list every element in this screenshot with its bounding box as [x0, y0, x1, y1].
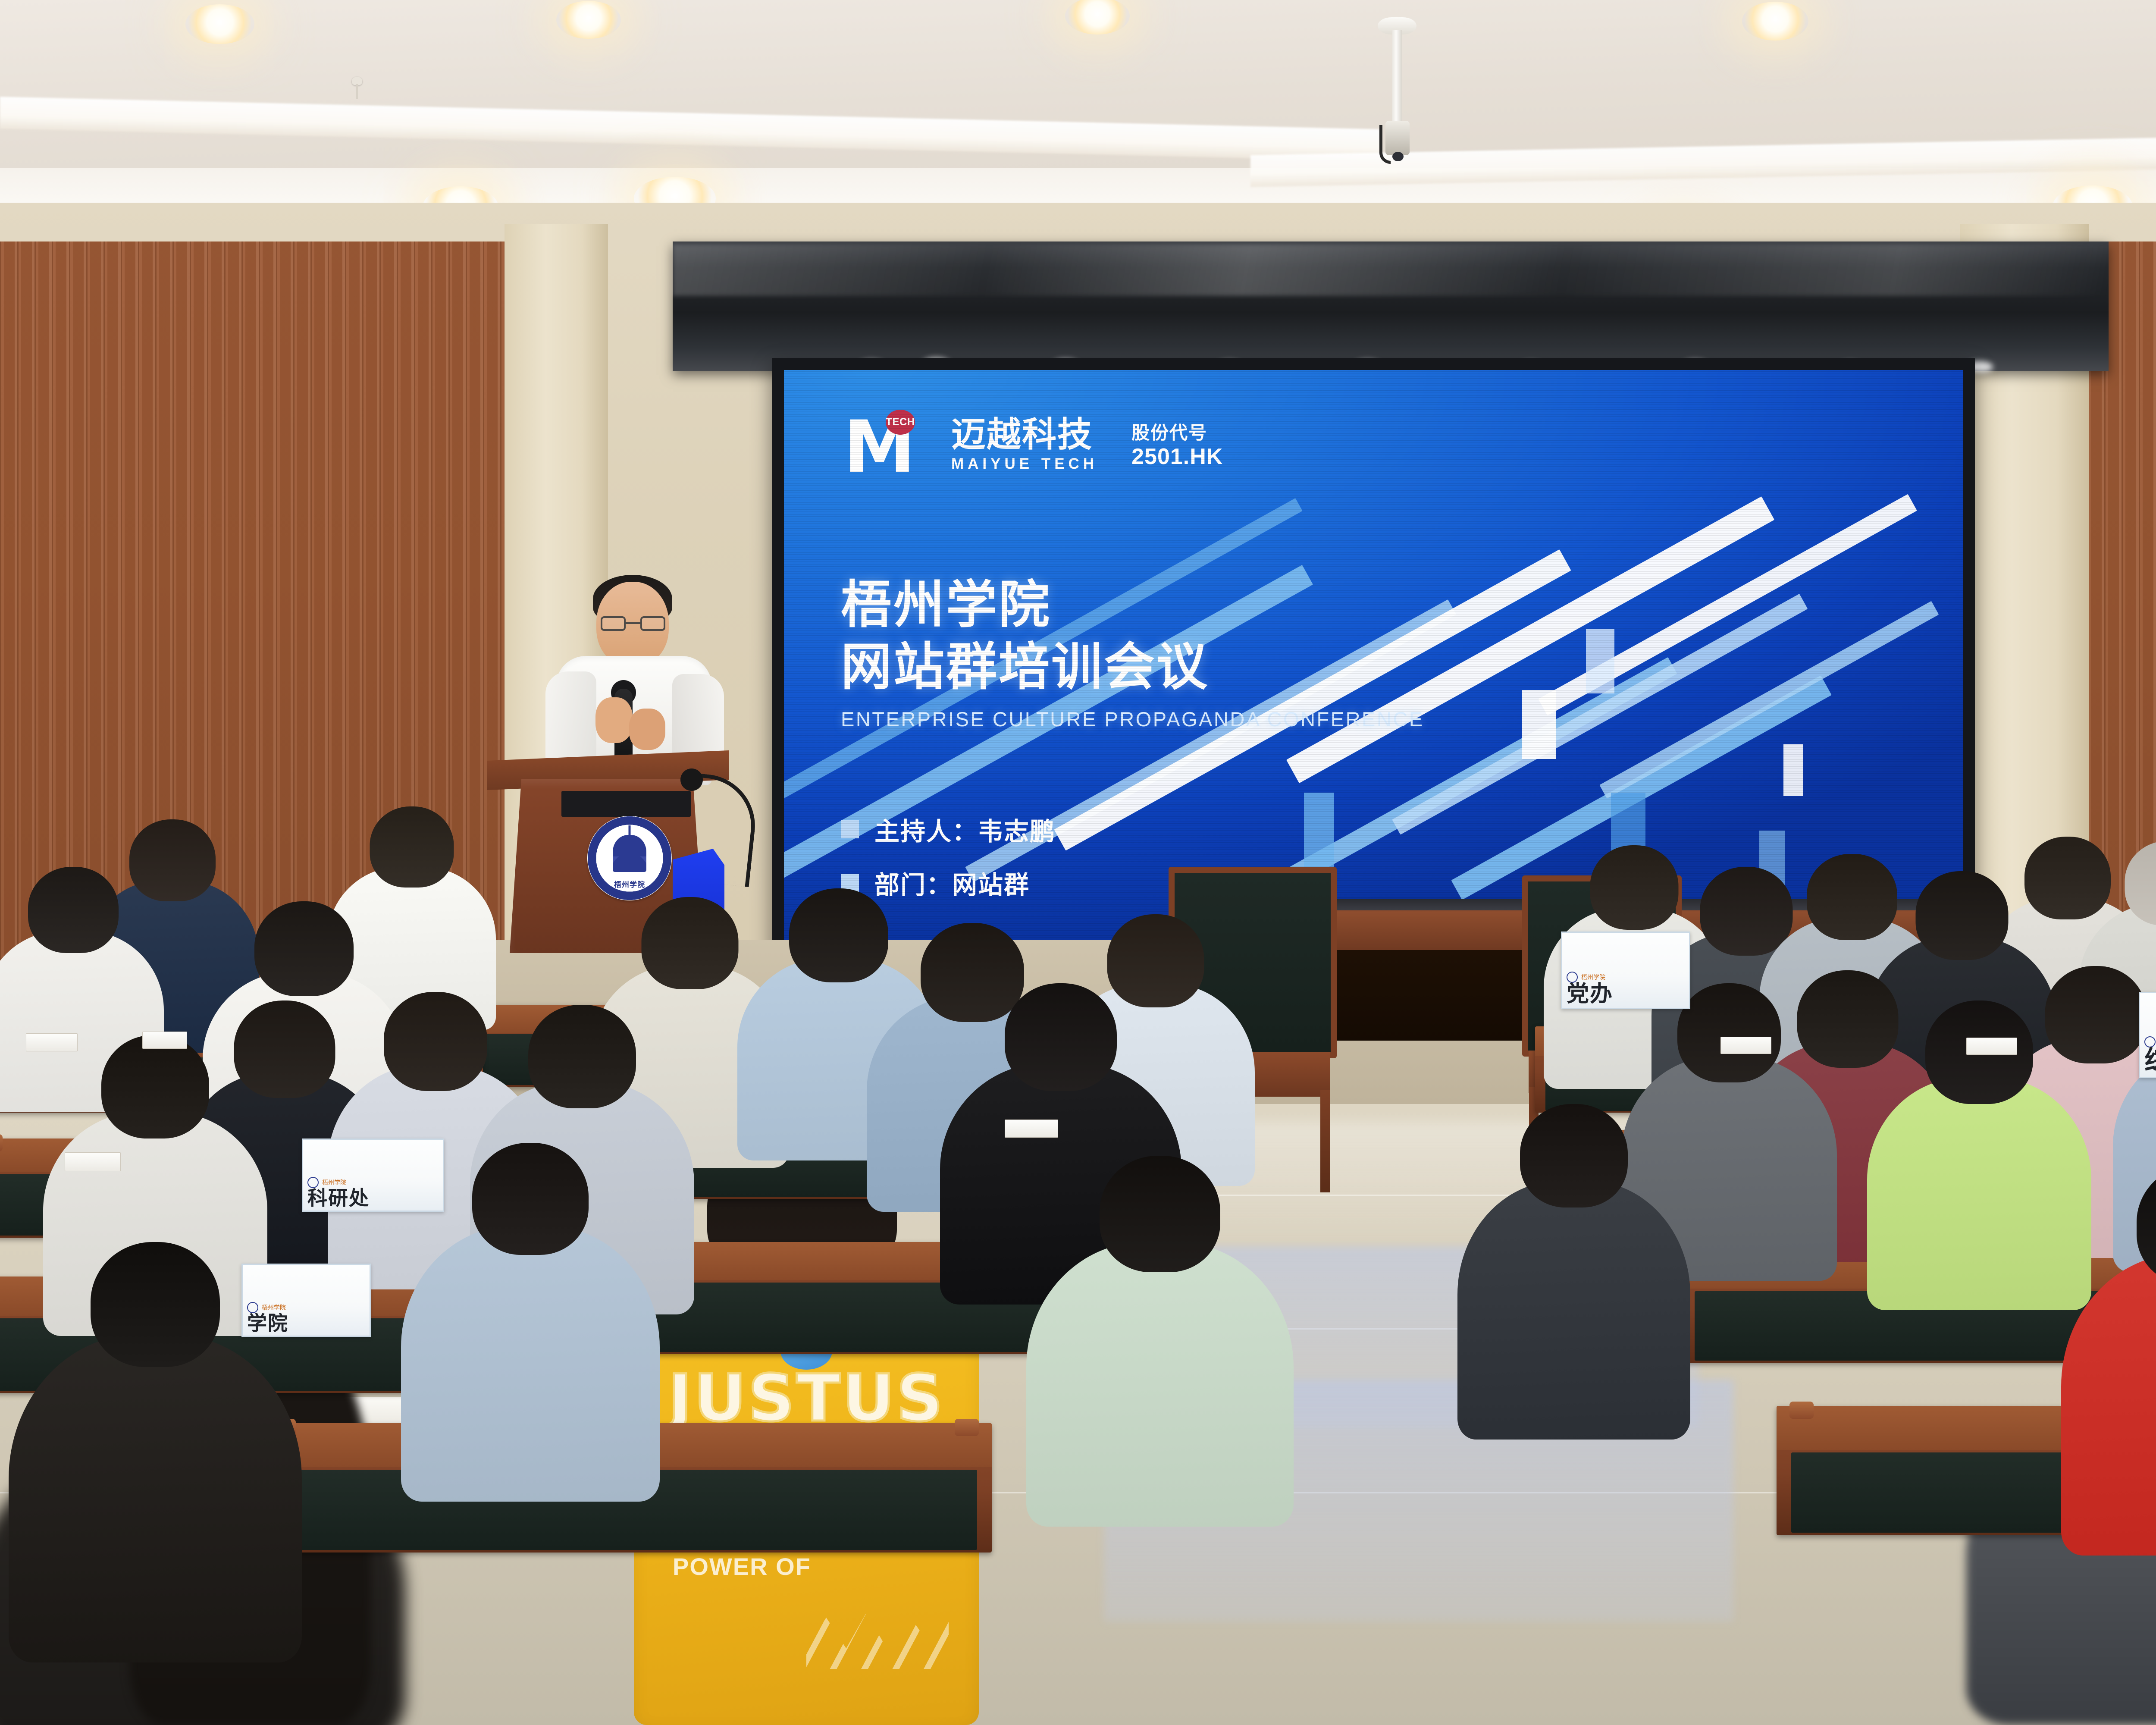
conference-hall-photo: M TECH 迈越科技 MAIYUE TECH 股份代号 2501.HK 梧州学…: [0, 0, 2156, 1725]
speaker-presenter: [541, 571, 727, 774]
attendee-front-green: [1026, 1156, 1294, 1557]
department-name-card: 梧州学院党办: [1561, 931, 1690, 1009]
attendee-centre-dark: [1457, 1104, 1690, 1466]
speaker-hand-right: [629, 709, 665, 750]
downlight-1: [185, 4, 254, 44]
title-line-1: 梧州学院: [841, 574, 1937, 637]
ceiling-camera-icon: [1378, 17, 1416, 160]
brand-name-en: MAIYUE TECH: [951, 455, 1098, 473]
attendee-torso: [9, 1335, 302, 1662]
attendee-torso: [1026, 1242, 1294, 1527]
namecard-subtitle: 梧州学院: [322, 1178, 346, 1187]
bullet-text-1: 主持人：韦志鹏: [874, 811, 1056, 847]
logo-tech-badge: TECH: [886, 410, 915, 435]
attendee-torso: [401, 1226, 660, 1502]
attendee-head: [28, 867, 119, 953]
attendee-head: [91, 1242, 220, 1367]
seat-plate-4: [1005, 1120, 1058, 1138]
namecard-department: 学院: [247, 1313, 365, 1333]
attendee-head: [101, 1035, 209, 1138]
seat-plate-3: [65, 1152, 121, 1171]
podium-desk-plate: [561, 791, 691, 817]
attendee-torso: [2061, 1254, 2156, 1556]
speaker-glasses-icon: [601, 616, 665, 631]
attendee-head: [1916, 871, 2009, 960]
attendee-red-shirt: [2061, 1164, 2156, 1587]
namecard-department: 党办: [1567, 983, 1685, 1005]
attendee-head: [472, 1143, 589, 1255]
brand-name-cn: 迈越科技: [951, 417, 1098, 452]
screen-valance: [673, 241, 2109, 371]
slide-bullet-1: 主持人：韦志鹏: [841, 811, 1937, 847]
stock-ticker-block: 股份代号 2501.HK: [1131, 422, 1223, 470]
attendee-head: [254, 901, 354, 996]
attendee-head: [1005, 983, 1117, 1091]
attendee-head: [642, 897, 739, 989]
seat-plate-5: [1720, 1037, 1771, 1054]
namecard-subtitle: 梧州学院: [1581, 973, 1605, 982]
tshirt-zigzag-icon: [806, 1596, 949, 1669]
brand-name-block: 迈越科技 MAIYUE TECH: [951, 417, 1098, 473]
attendee-head: [1677, 983, 1781, 1082]
attendee-torso: [1867, 1077, 2091, 1310]
gooseneck-microphone-icon: [690, 776, 763, 897]
ticker-label: 股份代号: [1131, 422, 1223, 445]
downlight-4: [1742, 2, 1808, 41]
attendee-head: [528, 1005, 636, 1108]
university-crest-icon: 梧州学院: [587, 816, 672, 900]
title-subtitle-en: ENTERPRISE CULTURE PROPAGANDA CONFERENCE: [841, 707, 1937, 731]
attendee-head: [1100, 1156, 1220, 1272]
speaker-hand-left: [595, 697, 633, 743]
downlight-2: [556, 1, 621, 39]
department-name-card: 梧州学院科研处: [302, 1138, 444, 1212]
namecard-department: 科研处: [307, 1188, 439, 1208]
sprinkler-head-icon: [349, 77, 365, 99]
crest-caption: 梧州学院: [587, 878, 672, 889]
department-name-card: 梧州学院学院: [241, 1264, 371, 1337]
ticker-code: 2501.HK: [1131, 444, 1223, 470]
title-line-2: 网站群培训会议: [841, 637, 1937, 699]
namecard-subtitle: 梧州学院: [262, 1303, 286, 1312]
attendee-torso: [1457, 1181, 1690, 1440]
attendee-head: [1520, 1104, 1628, 1207]
seat-plate-2: [142, 1032, 187, 1049]
attendee-head: [370, 806, 454, 888]
slide-title: 梧州学院 网站群培训会议 ENTERPRISE CULTURE PROPAGAN…: [841, 574, 1937, 731]
seat-plate-1: [26, 1033, 78, 1051]
department-name-card: 梧州学院网站群培训会议参会单位综合档案馆: [2139, 992, 2156, 1078]
bullet-square-icon: [841, 820, 859, 838]
namecard-department: 综合档案馆: [2144, 1048, 2156, 1074]
tshirt-footer-text: POWER OF: [673, 1552, 811, 1581]
seat-plate-6: [1966, 1038, 2017, 1055]
maiyue-logo-icon: M TECH: [841, 410, 918, 474]
slide-brand-row: M TECH 迈越科技 MAIYUE TECH 股份代号 2501.HK: [841, 410, 1937, 474]
